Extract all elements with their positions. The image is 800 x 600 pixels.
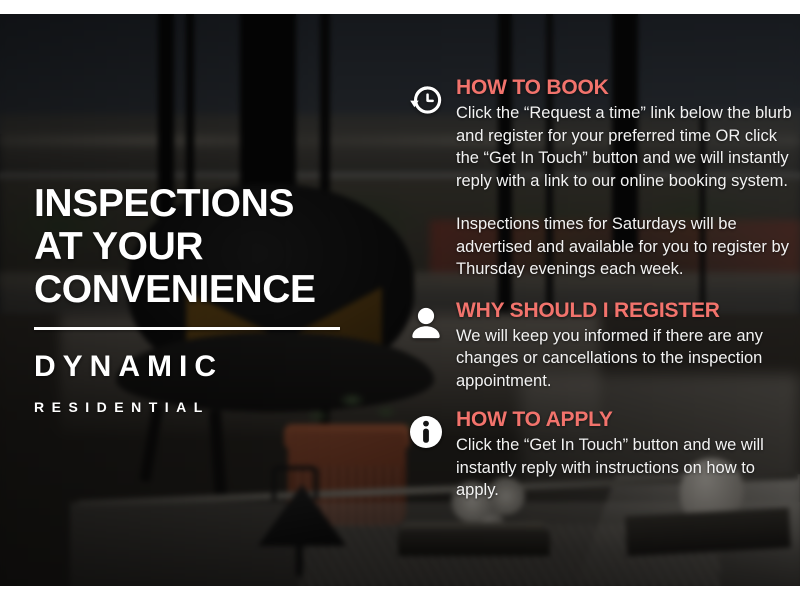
section-title: HOW TO APPLY [456,408,796,432]
section-how-to-book: HOW TO BOOK Click the “Request a time” l… [404,76,796,281]
section-title: WHY SHOULD I REGISTER [456,299,796,323]
section-body: Click the “Get In Touch” button and we w… [456,434,796,502]
history-clock-icon [404,78,448,122]
headline-line-2: AT YOUR [34,225,394,268]
info-icon [404,410,448,454]
section-body: Click the “Request a time” link below th… [456,102,796,281]
section-paragraph: Click the “Request a time” link below th… [456,102,796,192]
headline-line-3: CONVENIENCE [34,268,394,311]
section-paragraph: We will keep you informed if there are a… [456,325,796,393]
info-sections: HOW TO BOOK Click the “Request a time” l… [404,76,796,502]
brand-name: DYNAMIC [34,350,394,384]
section-paragraph: Inspections times for Saturdays will be … [456,213,796,281]
page-title: INSPECTIONS AT YOUR CONVENIENCE [34,182,394,311]
brand-tagline: RESIDENTIAL [34,399,394,415]
section-body: We will keep you informed if there are a… [456,325,796,393]
section-why-register: WHY SHOULD I REGISTER We will keep you i… [404,299,796,393]
headline-block: INSPECTIONS AT YOUR CONVENIENCE DYNAMIC … [34,182,394,415]
brand-divider [34,327,340,330]
poster-canvas: INSPECTIONS AT YOUR CONVENIENCE DYNAMIC … [0,0,800,600]
headline-line-1: INSPECTIONS [34,182,394,225]
section-title: HOW TO BOOK [456,76,796,100]
person-icon [404,301,448,345]
section-paragraph: Click the “Get In Touch” button and we w… [456,434,796,502]
section-how-to-apply: HOW TO APPLY Click the “Get In Touch” bu… [404,408,796,502]
